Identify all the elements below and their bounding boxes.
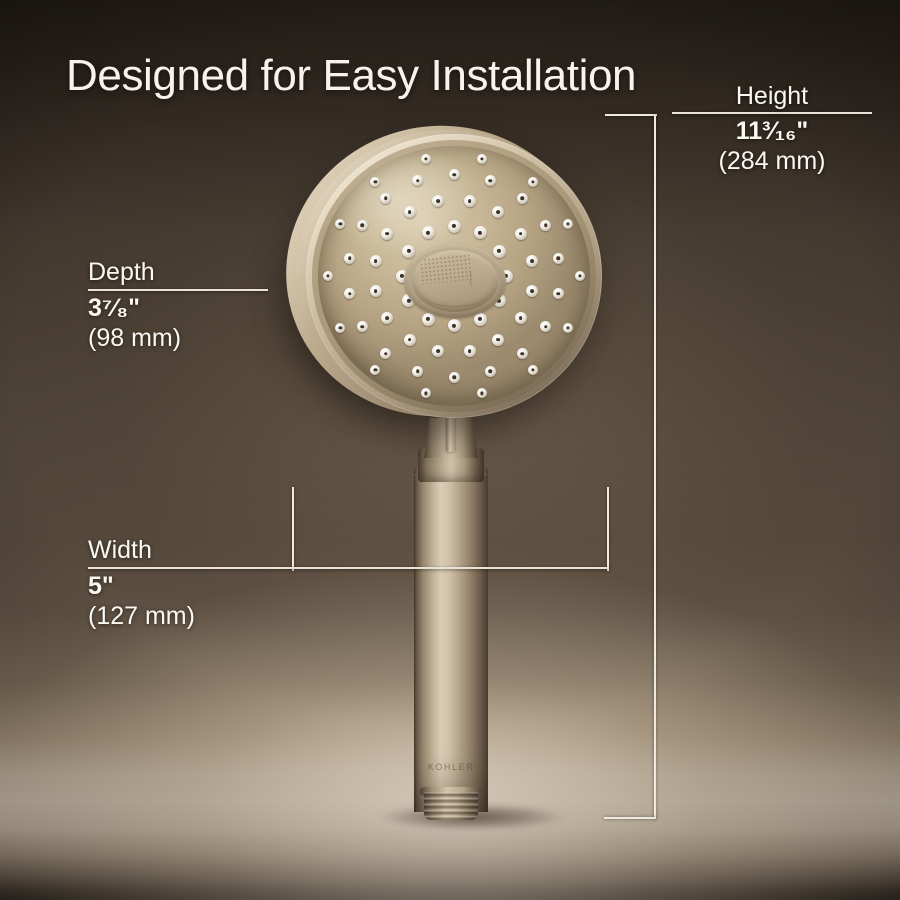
page-title: Designed for Easy Installation (66, 54, 636, 98)
height-label: Height (672, 82, 872, 110)
spray-nozzle (528, 365, 538, 375)
spray-nozzle (449, 372, 460, 383)
brand-mark: KOHLER (414, 762, 488, 772)
height-value-imperial: 11³⁄₁₆" (672, 116, 872, 146)
height-dimension-line (654, 115, 656, 819)
spray-nozzle (448, 319, 461, 332)
center-hub-inner (412, 250, 498, 312)
spray-nozzle (492, 334, 504, 346)
spray-nozzle (381, 228, 393, 240)
spray-nozzle (553, 288, 564, 299)
spray-nozzle (464, 345, 476, 357)
height-bottom-tick (604, 817, 656, 819)
hub-slot-line (470, 272, 493, 290)
spray-nozzle (464, 195, 476, 207)
spray-nozzle (370, 285, 382, 297)
spray-nozzle (323, 271, 333, 281)
height-callout: Height 11³⁄₁₆" (284 mm) (672, 82, 872, 176)
width-value-imperial: 5" (88, 571, 608, 601)
width-label: Width (88, 536, 608, 564)
spray-nozzle (448, 220, 461, 233)
spray-nozzle (449, 169, 460, 180)
depth-value-metric: (98 mm) (88, 323, 268, 353)
spray-nozzle (344, 253, 355, 264)
spray-nozzle (515, 228, 527, 240)
spray-nozzle (357, 321, 368, 332)
spray-nozzle (553, 253, 564, 264)
spray-nozzle (563, 219, 573, 229)
height-top-tick (605, 114, 657, 116)
depth-callout: Depth 3⁷⁄₈" (98 mm) (88, 258, 268, 353)
spray-nozzle (528, 177, 538, 187)
spray-nozzle (563, 323, 573, 333)
spray-nozzle (493, 245, 506, 258)
spray-nozzle (412, 366, 423, 377)
spray-nozzle (404, 334, 416, 346)
depth-value-imperial: 3⁷⁄₈" (88, 293, 268, 323)
spray-nozzle (517, 348, 528, 359)
width-value-metric: (127 mm) (88, 601, 608, 631)
spray-nozzle (575, 271, 585, 281)
spray-nozzle (474, 226, 487, 239)
depth-label: Depth (88, 258, 268, 286)
spray-nozzle (422, 226, 435, 239)
spray-nozzle (421, 154, 431, 164)
spray-nozzle (515, 312, 527, 324)
spray-nozzle (357, 220, 368, 231)
width-callout: Width 5" (127 mm) (88, 536, 608, 631)
height-rule (672, 112, 872, 114)
spray-nozzle (404, 206, 416, 218)
width-rule (88, 567, 608, 569)
height-value-metric: (284 mm) (672, 146, 872, 176)
depth-rule (88, 289, 268, 291)
spray-nozzle (485, 366, 496, 377)
spray-nozzle (517, 193, 528, 204)
hose-thread-connector (424, 792, 478, 820)
spray-nozzle (477, 154, 487, 164)
product-dimension-diagram: KOHLER Designed for Easy Installation He… (0, 0, 900, 900)
handle-cylinder (414, 468, 488, 812)
spray-nozzle (370, 255, 382, 267)
